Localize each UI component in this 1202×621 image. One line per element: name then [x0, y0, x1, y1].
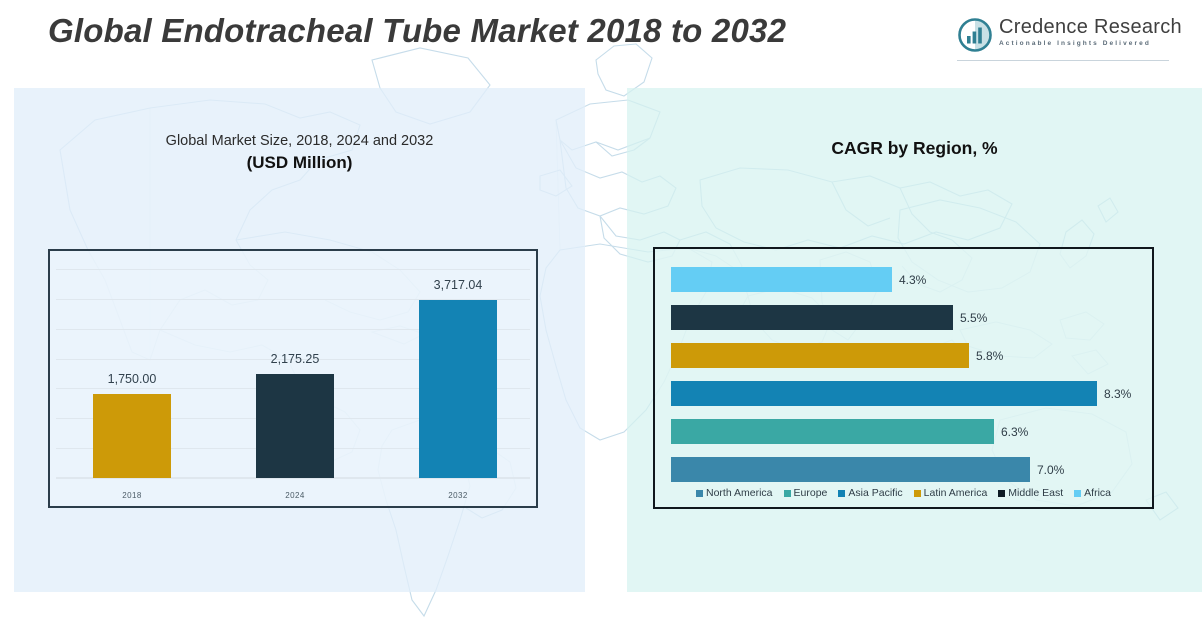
brand-logo-text: Credence Research Actionable Insights De…	[999, 16, 1169, 48]
bar-row: 6.3%	[671, 419, 994, 444]
bar-category-label: 2024	[285, 491, 304, 500]
legend-item[interactable]: Africa	[1074, 487, 1111, 499]
legend-swatch	[1074, 490, 1081, 497]
bar-value-label: 2,175.25	[271, 352, 320, 366]
bar-rect	[671, 381, 1097, 406]
left-chart-heading: Global Market Size, 2018, 2024 and 2032 …	[14, 131, 585, 175]
bar-rect	[671, 419, 994, 444]
legend-label: Africa	[1084, 487, 1111, 499]
bar-category-label: 2032	[448, 491, 467, 500]
legend-item[interactable]: Asia Pacific	[838, 487, 902, 499]
legend-swatch	[784, 490, 791, 497]
bar-column: 2,175.252024	[256, 374, 334, 478]
bar-rect	[671, 343, 969, 368]
bar-column: 1,750.002018	[93, 394, 171, 478]
bar-row: 5.8%	[671, 343, 969, 368]
legend-label: Europe	[794, 487, 828, 499]
legend-swatch	[696, 490, 703, 497]
brand-logo[interactable]: Credence Research Actionable Insights De…	[957, 16, 1169, 58]
bar-value-label: 1,750.00	[108, 372, 157, 386]
legend-item[interactable]: North America	[696, 487, 773, 499]
legend-label: Middle East	[1008, 487, 1063, 499]
bar-value-label: 7.0%	[1037, 463, 1064, 477]
bar-value-label: 8.3%	[1104, 387, 1131, 401]
left-chart-unit-title: (USD Million)	[14, 151, 585, 175]
right-chart-heading: CAGR by Region, %	[627, 136, 1202, 160]
bar-value-label: 5.5%	[960, 311, 987, 325]
horizontal-bar-series: 4.3%5.5%5.8%8.3%6.3%7.0%	[655, 249, 1152, 507]
legend-swatch	[914, 490, 921, 497]
bar-value-label: 5.8%	[976, 349, 1003, 363]
market-size-chart: 1,750.0020182,175.2520243,717.042032	[48, 249, 538, 508]
legend-item[interactable]: Latin America	[914, 487, 988, 499]
bar-rect	[256, 374, 334, 478]
infographic-canvas: Global Endotracheal Tube Market 2018 to …	[0, 0, 1202, 621]
bar-column: 3,717.042032	[419, 300, 497, 478]
bar-rect	[93, 394, 171, 478]
right-chart-title: CAGR by Region, %	[627, 136, 1202, 160]
legend-swatch	[838, 490, 845, 497]
bar-row: 5.5%	[671, 305, 953, 330]
legend-item[interactable]: Middle East	[998, 487, 1063, 499]
page-title: Global Endotracheal Tube Market 2018 to …	[48, 12, 786, 50]
left-chart-subtitle: Global Market Size, 2018, 2024 and 2032	[14, 131, 585, 151]
brand-name: Credence Research	[999, 16, 1169, 39]
legend-label: North America	[706, 487, 773, 499]
bar-row: 7.0%	[671, 457, 1030, 482]
brand-tagline: Actionable Insights Delivered	[999, 39, 1169, 48]
legend-label: Latin America	[924, 487, 988, 499]
bar-row: 8.3%	[671, 381, 1097, 406]
column-series: 1,750.0020182,175.2520243,717.042032	[50, 251, 536, 506]
bar-rect	[671, 267, 892, 292]
cagr-by-region-chart: 4.3%5.5%5.8%8.3%6.3%7.0% North AmericaEu…	[653, 247, 1154, 509]
header-divider	[957, 60, 1169, 61]
bar-row: 4.3%	[671, 267, 892, 292]
bar-category-label: 2018	[122, 491, 141, 500]
bar-rect	[671, 305, 953, 330]
chart-legend: North AmericaEuropeAsia PacificLatin Ame…	[655, 487, 1152, 499]
bar-value-label: 3,717.04	[434, 278, 483, 292]
legend-swatch	[998, 490, 1005, 497]
bar-value-label: 6.3%	[1001, 425, 1028, 439]
legend-label: Asia Pacific	[848, 487, 902, 499]
bar-rect	[671, 457, 1030, 482]
bar-value-label: 4.3%	[899, 273, 926, 287]
legend-item[interactable]: Europe	[784, 487, 828, 499]
bar-chart-circle-icon	[957, 17, 993, 53]
bar-rect	[419, 300, 497, 478]
header: Global Endotracheal Tube Market 2018 to …	[0, 0, 1202, 72]
